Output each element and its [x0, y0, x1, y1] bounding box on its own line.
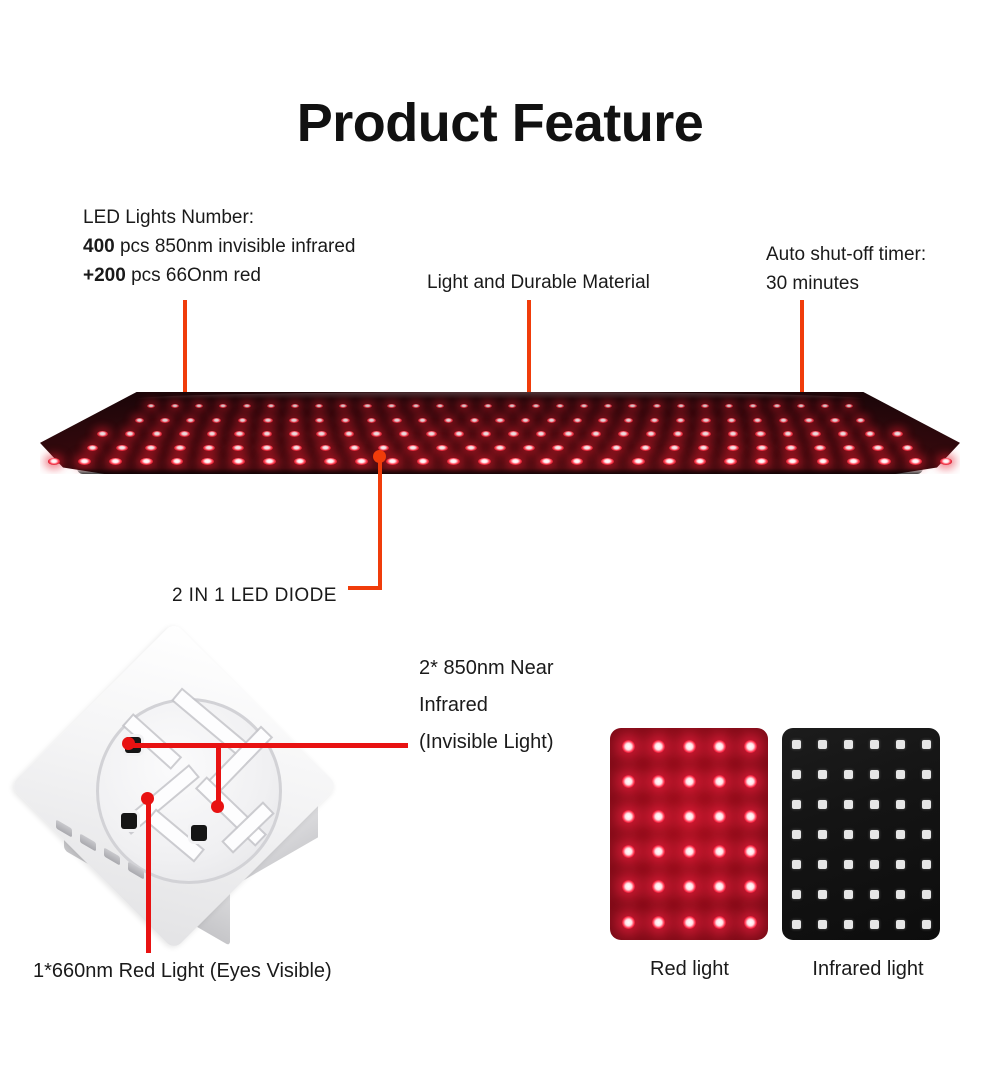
panel-led: [174, 445, 186, 451]
panel-led: [646, 431, 656, 437]
panel-led: [291, 404, 299, 408]
panel-led: [604, 404, 612, 408]
swatch-red-led: [683, 916, 696, 929]
near-infrared-line-3: (Invisible Light): [419, 724, 554, 761]
panel-led: [160, 418, 169, 423]
panel-led: [756, 445, 768, 451]
panel-led: [399, 431, 409, 437]
near-infrared-line-1: 2* 850nm Near: [419, 650, 554, 687]
swatch-infrared-led: [922, 830, 931, 839]
swatch-red-led: [744, 740, 757, 753]
swatch-infrared-led: [792, 800, 801, 809]
swatch-infrared-led: [922, 860, 931, 869]
swatch-infrared-led: [922, 740, 931, 749]
swatch-red-led: [652, 916, 665, 929]
panel-led: [407, 445, 419, 451]
panel-led: [909, 458, 922, 465]
panel-led: [392, 418, 401, 423]
panel-led: [783, 431, 793, 437]
panel-led: [339, 404, 347, 408]
panel-led: [509, 458, 522, 465]
panel-led: [481, 431, 491, 437]
swatch-infrared-led: [818, 830, 827, 839]
panel-led: [640, 445, 652, 451]
label-auto-shutoff-timer: Auto shut-off timer: 30 minutes: [766, 240, 926, 298]
panel-led: [838, 431, 848, 437]
swatch-infrared-led: [922, 770, 931, 779]
panel-led: [267, 404, 275, 408]
swatch-red-led: [652, 740, 665, 753]
callout-line-2in1-diode: [378, 455, 382, 588]
panel-bottom-edge: [77, 468, 923, 474]
swatch-red-led: [652, 775, 665, 788]
panel-led: [598, 418, 607, 423]
label-660nm-red-light: 1*660nm Red Light (Eyes Visible): [33, 957, 332, 986]
panel-led: [147, 404, 155, 408]
swatch-red-led: [622, 775, 635, 788]
callout-dot-850nm-chip-b: [211, 800, 224, 813]
panel-led: [573, 418, 582, 423]
panel-led: [355, 458, 368, 465]
panel-led: [523, 445, 535, 451]
panel-led: [532, 404, 540, 408]
panel-led: [676, 418, 685, 423]
swatch-infrared-led: [844, 800, 853, 809]
panel-led: [203, 445, 215, 451]
panel-led: [387, 404, 395, 408]
panel-led: [700, 431, 710, 437]
panel-led: [87, 445, 99, 451]
panel-led: [650, 418, 659, 423]
led-count-850nm-value: 400: [83, 236, 115, 257]
swatch-infrared-led: [844, 770, 853, 779]
panel-led: [727, 445, 739, 451]
panel-led: [653, 404, 661, 408]
infographic-canvas: Product Feature LED Lights Number: 400 p…: [0, 0, 1000, 1084]
panel-led: [892, 431, 902, 437]
swatch-infrared-led: [818, 800, 827, 809]
panel-led: [556, 404, 564, 408]
panel-led: [872, 445, 884, 451]
led-diode-closeup-image: [22, 642, 372, 942]
panel-led: [785, 445, 797, 451]
swatch-infrared-led: [844, 920, 853, 929]
panel-led: [140, 458, 153, 465]
panel-led: [663, 458, 676, 465]
panel-led: [78, 458, 91, 465]
swatch-red-led: [622, 880, 635, 893]
swatch-red-led: [744, 916, 757, 929]
panel-led: [484, 404, 492, 408]
panel-led: [878, 458, 891, 465]
swatch-red-led: [713, 775, 726, 788]
panel-led: [291, 445, 303, 451]
swatch-infrared-led: [870, 920, 879, 929]
panel-led: [263, 458, 276, 465]
panel-led: [116, 445, 128, 451]
swatch-red-led: [652, 810, 665, 823]
panel-led: [109, 458, 122, 465]
panel-led: [426, 431, 436, 437]
panel-led: [344, 431, 354, 437]
swatch-infrared-led: [792, 740, 801, 749]
panel-led: [845, 404, 853, 408]
swatch-red-led: [622, 740, 635, 753]
panel-led: [495, 418, 504, 423]
panel-led: [145, 445, 157, 451]
panel-led: [753, 418, 762, 423]
swatch-red-led: [713, 740, 726, 753]
panel-led: [243, 404, 251, 408]
panel-led: [571, 458, 584, 465]
swatch-red-led: [713, 845, 726, 858]
panel-led: [186, 418, 195, 423]
led-count-line-2: 400 pcs 850nm invisible infrared: [83, 232, 356, 261]
panel-led: [581, 445, 593, 451]
callout-dot-660nm-chip: [141, 792, 154, 805]
panel-led: [324, 458, 337, 465]
led-count-line-1: LED Lights Number:: [83, 203, 356, 232]
panel-led: [724, 458, 737, 465]
swatch-infrared-led: [870, 830, 879, 839]
swatch-red-led: [744, 775, 757, 788]
panel-led: [521, 418, 530, 423]
panel-led: [673, 431, 683, 437]
panel-led: [563, 431, 573, 437]
label-near-infrared: 2* 850nm Near Infrared (Invisible Light): [419, 650, 554, 761]
swatch-infrared-led: [818, 770, 827, 779]
panel-led: [725, 404, 733, 408]
panel-led: [817, 458, 830, 465]
panel-led: [371, 431, 381, 437]
panel-led: [804, 418, 813, 423]
swatch-red-led: [744, 880, 757, 893]
label-light-durable-material: Light and Durable Material: [427, 268, 650, 297]
panel-led: [494, 445, 506, 451]
swatch-infrared-led: [792, 830, 801, 839]
swatch-red-led: [652, 845, 665, 858]
swatch-infrared-led: [870, 800, 879, 809]
panel-led: [152, 431, 162, 437]
panel-led: [755, 431, 765, 437]
panel-led: [465, 445, 477, 451]
panel-led: [454, 431, 464, 437]
label-led-lights-number: LED Lights Number: 400 pcs 850nm invisib…: [83, 203, 356, 290]
panel-led: [125, 431, 135, 437]
panel-led: [902, 445, 914, 451]
swatch-infrared-led: [922, 920, 931, 929]
panel-led: [830, 418, 839, 423]
panel-led: [195, 404, 203, 408]
panel-led: [580, 404, 588, 408]
panel-led: [677, 404, 685, 408]
panel-led: [289, 418, 298, 423]
panel-led-grid: [40, 392, 960, 474]
panel-led: [779, 418, 788, 423]
panel-led: [207, 431, 217, 437]
swatch-red-led: [683, 845, 696, 858]
panel-led: [536, 431, 546, 437]
panel-led: [547, 418, 556, 423]
panel-led: [669, 445, 681, 451]
panel-led: [417, 458, 430, 465]
panel-led: [701, 418, 710, 423]
page-title: Product Feature: [0, 92, 1000, 154]
diode-chip-660nm: [121, 813, 137, 829]
panel-led: [821, 404, 829, 408]
callout-line-660nm-red: [146, 798, 151, 953]
panel-led: [315, 404, 323, 408]
swatch-infrared-led: [870, 860, 879, 869]
panel-led: [436, 404, 444, 408]
swatch-red-led: [652, 880, 665, 893]
panel-led: [940, 458, 953, 465]
panel-led: [701, 404, 709, 408]
swatch-infrared-led: [792, 860, 801, 869]
panel-led: [847, 458, 860, 465]
swatch-red-led: [683, 775, 696, 788]
callout-dot-850nm-chip-a: [122, 737, 135, 750]
panel-led: [810, 431, 820, 437]
swatch-infrared-led: [844, 860, 853, 869]
panel-led: [179, 431, 189, 437]
timer-line-2: 30 minutes: [766, 269, 926, 298]
swatch-infrared-led: [844, 830, 853, 839]
panel-led: [508, 431, 518, 437]
panel-led: [238, 418, 247, 423]
swatch-red-led: [683, 810, 696, 823]
swatch-infrared-led: [896, 740, 905, 749]
panel-led: [611, 445, 623, 451]
panel-led: [320, 445, 332, 451]
panel-led: [444, 418, 453, 423]
swatch-infrared-led: [922, 890, 931, 899]
swatch-infrared-led: [844, 740, 853, 749]
swatch-infrared-led: [896, 860, 905, 869]
swatch-infrared-led: [844, 890, 853, 899]
panel-led: [447, 458, 460, 465]
swatch-infrared-led: [870, 890, 879, 899]
panel-led: [412, 404, 420, 408]
panel-led: [755, 458, 768, 465]
caption-infrared-light: Infrared light: [778, 958, 958, 981]
swatch-infrared-led: [870, 740, 879, 749]
panel-led: [773, 404, 781, 408]
caption-red-light: Red light: [607, 958, 772, 981]
swatch-infrared-led: [792, 770, 801, 779]
swatch-infrared-led: [922, 800, 931, 809]
panel-led: [814, 445, 826, 451]
panel-led: [727, 418, 736, 423]
panel-led: [97, 431, 107, 437]
swatch-infrared-led: [792, 920, 801, 929]
panel-led: [591, 431, 601, 437]
led-count-660nm-value: +200: [83, 265, 126, 286]
panel-led: [341, 418, 350, 423]
swatch-infrared-led: [896, 920, 905, 929]
panel-led: [436, 445, 448, 451]
panel-led: [294, 458, 307, 465]
panel-led: [135, 418, 144, 423]
panel-led: [263, 418, 272, 423]
led-count-660nm-text: pcs 66Onm red: [126, 265, 261, 286]
swatch-red-led: [713, 880, 726, 893]
panel-led: [843, 445, 855, 451]
diode-lens-area: [96, 698, 282, 884]
panel-led: [786, 458, 799, 465]
panel-led: [316, 431, 326, 437]
panel-led: [234, 431, 244, 437]
led-therapy-panel-image: [40, 392, 960, 474]
swatch-red-light-panel: [610, 728, 768, 940]
swatch-red-led: [622, 810, 635, 823]
swatch-red-led: [744, 845, 757, 858]
swatch-infrared-led: [792, 890, 801, 899]
near-infrared-line-2: Infrared: [419, 687, 554, 724]
label-2in1-led-diode: 2 IN 1 LED DIODE: [172, 581, 337, 610]
swatch-red-led: [713, 916, 726, 929]
panel-led: [508, 404, 516, 408]
swatch-infrared-led: [818, 890, 827, 899]
panel-led: [315, 418, 324, 423]
panel-led: [363, 404, 371, 408]
panel-led: [418, 418, 427, 423]
swatch-red-led: [683, 880, 696, 893]
panel-led: [171, 404, 179, 408]
panel-led: [694, 458, 707, 465]
diode-chip-850nm-b: [191, 825, 207, 841]
panel-led: [262, 431, 272, 437]
led-count-line-3: +200 pcs 66Onm red: [83, 261, 356, 290]
panel-led: [201, 458, 214, 465]
panel-led: [797, 404, 805, 408]
callout-elbow-2in1-diode: [348, 586, 382, 590]
swatch-infrared-led: [818, 860, 827, 869]
panel-led: [171, 458, 184, 465]
swatch-infrared-led: [896, 890, 905, 899]
swatch-infrared-led: [896, 770, 905, 779]
callout-line-near-infrared-horizontal: [126, 743, 408, 748]
panel-led: [552, 445, 564, 451]
panel-led: [232, 458, 245, 465]
swatch-infrared-led: [896, 800, 905, 809]
panel-led: [212, 418, 221, 423]
panel-led: [728, 431, 738, 437]
panel-led: [865, 431, 875, 437]
swatch-red-led: [744, 810, 757, 823]
panel-led: [367, 418, 376, 423]
panel-led: [540, 458, 553, 465]
swatch-infrared-light-panel: [782, 728, 940, 940]
panel-led: [624, 418, 633, 423]
swatch-infrared-led: [818, 920, 827, 929]
panel-led: [289, 431, 299, 437]
panel-led: [698, 445, 710, 451]
panel-led: [749, 404, 757, 408]
swatch-red-led: [683, 740, 696, 753]
panel-led: [349, 445, 361, 451]
panel-led: [478, 458, 491, 465]
panel-led: [460, 404, 468, 408]
timer-line-1: Auto shut-off timer:: [766, 240, 926, 269]
panel-led: [618, 431, 628, 437]
led-count-850nm-text: pcs 850nm invisible infrared: [115, 236, 356, 257]
swatch-red-led: [713, 810, 726, 823]
swatch-red-led: [622, 845, 635, 858]
panel-led: [232, 445, 244, 451]
panel-led: [628, 404, 636, 408]
panel-led: [632, 458, 645, 465]
panel-led: [856, 418, 865, 423]
swatch-infrared-led: [818, 740, 827, 749]
swatch-red-led: [622, 916, 635, 929]
panel-led: [261, 445, 273, 451]
swatch-infrared-led: [870, 770, 879, 779]
swatch-infrared-led: [896, 830, 905, 839]
panel-led: [601, 458, 614, 465]
panel-led: [470, 418, 479, 423]
panel-led: [219, 404, 227, 408]
panel-led: [48, 458, 61, 465]
panel-led: [386, 458, 399, 465]
